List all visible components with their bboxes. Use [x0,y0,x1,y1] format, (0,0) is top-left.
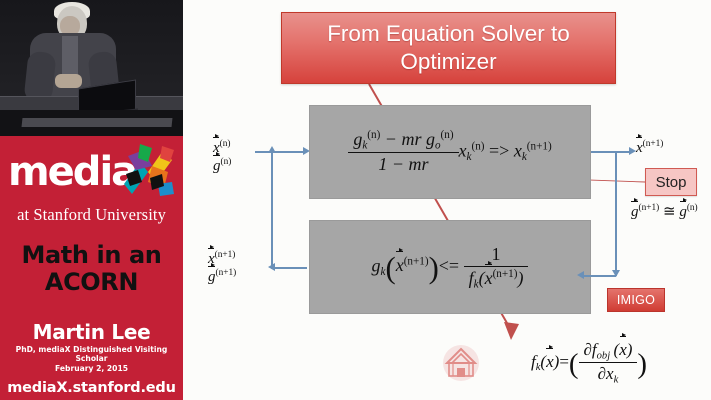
mediax-wordmark: media [8,152,136,192]
speaker-name: Martin Lee [0,320,183,344]
arrowhead-into-box2 [577,271,584,279]
slide-title: From Equation Solver to Optimizer [282,20,615,76]
brand-block: media at Stanford University Math in an … [0,142,183,400]
connector-box2-to-left [271,267,307,269]
brand-subtitle: at Stanford University [0,205,183,225]
equation-constraint: gk(x(n+1))<= 1 fk(x(n+1)) [372,244,529,291]
arrowhead-left-return [268,263,275,271]
arrowhead-left-riser-top [268,146,276,153]
mediax-logo: media [0,142,183,204]
connector-box1-to-right [591,151,631,153]
talk-title-line-1: Math in an [0,242,183,269]
presentation-sidebar: media at Stanford University Math in an … [0,0,183,400]
label-left-top: x(n) g(n) [213,139,231,175]
connector-left-to-box1 [255,151,305,153]
stop-label: Stop [656,174,687,191]
objective-derivative-equation: fk(x)=( ∂fobj (x) ∂xk ) [531,340,647,386]
acorn-logo [442,344,480,382]
speaker-credentials: PhD, mediaX Distinguished Visiting Schol… [0,345,183,374]
connector-left-riser [271,151,273,268]
lecture-video-thumbnail[interactable] [0,0,183,136]
desk-front-panel [22,118,173,127]
arrowhead-right-exit [629,147,636,155]
label-convergence-condition: g(n+1) ≅ g(n) [631,203,698,221]
speaker-credentials-line-2: February 2, 2015 [0,364,183,374]
label-left-bottom: x(n+1) g(n+1) [208,250,236,286]
slide-canvas: From Equation Solver to Optimizer x(n) g… [183,0,711,400]
label-right-output: x(n+1) [636,139,663,157]
stop-badge[interactable]: Stop [645,168,697,196]
slide-title-box: From Equation Solver to Optimizer [281,12,616,84]
connector-right-to-box2 [581,275,616,277]
mediax-x-icon [118,140,180,202]
speaker-hands [55,74,82,88]
talk-title: Math in an ACORN [0,242,183,296]
equation-box-constraint: gk(x(n+1))<= 1 fk(x(n+1)) [309,220,591,314]
equation-update: gk(n) − mr go(n) 1 − mr xk(n) => xk(n+1) [348,129,551,176]
talk-title-line-2: ACORN [0,269,183,296]
imigo-label: IMIGO [617,293,655,307]
speaker-credentials-line-1: PhD, mediaX Distinguished Visiting Schol… [0,345,183,364]
equation-box-update: gk(n) − mr go(n) 1 − mr xk(n) => xk(n+1) [309,105,591,199]
connector-right-dropper [615,151,617,276]
imigo-badge[interactable]: IMIGO [607,288,665,312]
speaker-url[interactable]: mediaX.stanford.edu [0,380,183,396]
video-slide-viewer: media at Stanford University Math in an … [0,0,711,400]
